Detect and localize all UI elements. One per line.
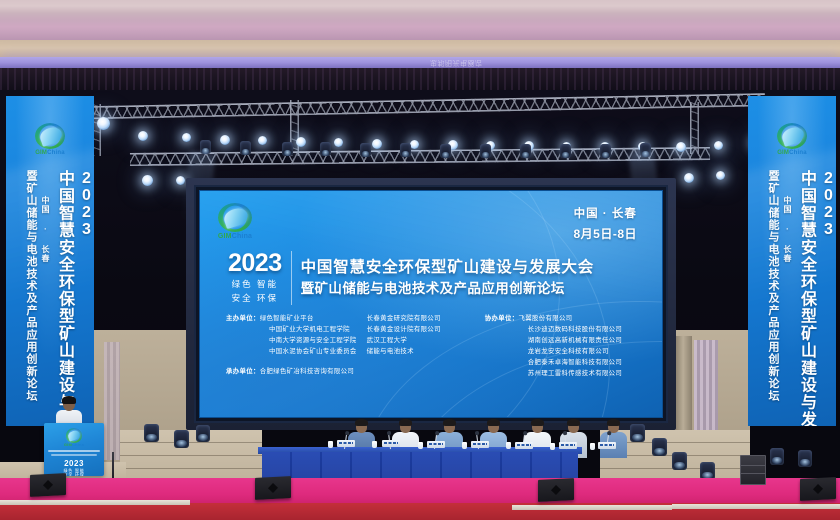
banner-text-stack: 2023 中国智慧安全环保型矿山建设与发展大会 中国 · 长春 暨矿山储能与电池… (6, 96, 94, 426)
organizer-host-b3: 武汉工程大学 (367, 335, 441, 346)
par-light (176, 176, 185, 185)
organizer-host-label: 主办单位： (226, 315, 260, 322)
gim-logo-main: GIM (64, 442, 72, 447)
floor-moving-head (630, 424, 645, 442)
ceiling-stone-band (0, 40, 840, 58)
truss-leg-right (690, 102, 699, 154)
banner-text-stack: 2023 中国智慧安全环保型矿山建设与发展大会 中国 · 长春 暨矿山储能与电池… (748, 96, 836, 426)
organizer-host-1: 绿色智能矿业平台 (260, 315, 314, 322)
stage-monitor-speaker (800, 477, 836, 501)
gim-logo-main: GIM (218, 233, 232, 240)
par-light (97, 117, 110, 130)
par-light (716, 171, 725, 180)
moving-head-light (400, 143, 411, 157)
organizer-undertaker-label: 承办单位： (226, 368, 260, 375)
screen-slogan-line1: 绿色 智能 (228, 278, 282, 290)
organizer-undertaker-row: 承办单位：合肥绿色矿冶科技咨询有限公司 (226, 366, 357, 377)
organizer-coorg-row: 协办单位：飞翼股份有限公司 (485, 313, 622, 324)
moving-head-light (640, 143, 651, 157)
organizer-host-b2: 长春黄金设计院有限公司 (367, 324, 441, 335)
gim-china-logo: GIMChina (213, 202, 257, 240)
name-plate (337, 440, 355, 447)
vertical-banner-right: GIMChina 2023 中国智慧安全环保型矿山建设与发展大会 中国 · 长春… (748, 96, 836, 426)
screen-title-block: 中国智慧安全环保型矿山建设与发展大会 暨矿山储能与电池技术及产品应用创新论坛 (301, 258, 642, 297)
floor-edge-strip (672, 504, 840, 509)
moving-head-light (440, 144, 451, 158)
gim-logo-text: GIMChina (63, 443, 85, 447)
panelist-head (532, 421, 543, 433)
par-light (142, 175, 153, 186)
panelist-hair (487, 419, 500, 426)
panelist-head (568, 421, 579, 433)
gim-logo-text: GIMChina (213, 233, 257, 240)
water-cup (372, 441, 377, 448)
screen-title-divider (291, 251, 292, 305)
screen-title-row: 2023 绿色 智能 安全 环保 中国智慧安全环保型矿山建设与发展大会 暨矿山储… (228, 251, 642, 305)
organizer-coorg-3: 湖南创远高新机械有限责任公司 (485, 335, 622, 346)
name-plate (515, 442, 533, 449)
floor-moving-head (798, 450, 812, 467)
par-light (676, 142, 686, 152)
panelist-hair (399, 419, 412, 426)
par-light (334, 138, 343, 147)
organizer-coorg-label: 协办单位： (485, 315, 519, 322)
speaker-podium: GIMChina 2023 绿色 智能 安全 环保 (44, 423, 104, 476)
banner-year: 2023 (820, 170, 836, 238)
panelist-hair (531, 419, 544, 426)
podium-stand (112, 452, 114, 480)
water-cup (418, 442, 423, 449)
banner-city: 中国 · 长春 (40, 196, 51, 263)
screen-year: 2023 (228, 251, 282, 276)
organizer-host-row: 主办单位：绿色智能矿业平台 (226, 313, 357, 324)
organizer-host-b1: 长春黄金研究院有限公司 (367, 313, 441, 324)
organizer-coorg-6: 苏州理工雷科传感技术有限公司 (485, 368, 622, 379)
banner-title: 中国智慧安全环保型矿山建设与发展大会 (52, 170, 76, 426)
conference-stage-photo: 忠邦阳光电器店 (0, 0, 840, 520)
moving-head-light (360, 143, 371, 157)
floor-edge-strip (512, 505, 672, 510)
organizer-host-3: 中南大学资源与安全工程学院 (226, 335, 357, 346)
organizer-host-b4: 储能与电池技术 (367, 346, 441, 357)
equipment-road-case (740, 455, 766, 485)
floor-moving-head (196, 425, 210, 442)
stage-monitor-speaker (30, 473, 66, 497)
water-cup (462, 442, 467, 449)
panelist-hair (443, 419, 456, 426)
screen-city: 中国 · 长春 (573, 205, 637, 221)
organizer-host-4: 中国水泥协会矿山专业委员会 (226, 346, 357, 357)
panelist-hair (607, 419, 620, 426)
name-plate (382, 440, 400, 447)
floor-moving-head (652, 438, 667, 456)
podium-year: 2023 (44, 459, 104, 468)
organizer-host-column-2: 长春黄金研究院有限公司 长春黄金设计院有限公司 武汉工程大学 储能与电池技术 (367, 313, 441, 379)
banner-city: 中国 · 长春 (782, 196, 793, 263)
panelist-head (444, 421, 455, 433)
panelist-head (400, 421, 411, 433)
moving-head-light (480, 144, 491, 158)
par-light (138, 131, 148, 141)
water-cup (328, 441, 333, 448)
floor-moving-head (672, 452, 687, 470)
par-light (258, 136, 267, 145)
water-cup (590, 443, 595, 450)
name-plate (598, 442, 616, 449)
organizer-coorg-1: 飞翼股份有限公司 (519, 315, 573, 322)
floor-edge-strip (0, 500, 190, 505)
stage-monitor-speaker (538, 478, 574, 502)
stage-monitor-speaker (255, 476, 291, 500)
vertical-banner-left: GIMChina 2023 中国智慧安全环保型矿山建设与发展大会 中国 · 长春… (6, 96, 94, 426)
panelist (600, 421, 627, 458)
moving-head-light (240, 141, 251, 155)
banner-title: 中国智慧安全环保型矿山建设与发展大会 (794, 170, 818, 426)
screen-place-block: 中国 · 长春 8月5日-8日 (573, 205, 637, 242)
led-main-screen: GIMChina 中国 · 长春 8月5日-8日 2023 绿色 智能 安全 环… (199, 190, 663, 418)
par-light (714, 141, 723, 150)
stage-steps-left (120, 430, 262, 480)
moving-head-light (200, 140, 211, 154)
name-plate (427, 441, 445, 448)
ceiling-reflected-text: 忠邦阳光电器店 (430, 58, 483, 67)
screen-title-line1: 中国智慧安全环保型矿山建设与发展大会 (301, 258, 642, 277)
moving-head-light (320, 142, 331, 156)
panelist-hair (567, 419, 580, 426)
gim-china-logo: GIMChina (63, 428, 85, 447)
ceiling-led-strip (0, 57, 840, 68)
organizer-undertaker-value: 合肥绿色矿冶科技咨询有限公司 (260, 368, 354, 375)
moving-head-light (282, 142, 293, 156)
banner-subtitle: 暨矿山储能与电池技术及产品应用创新论坛 (765, 170, 781, 402)
floor-moving-head (144, 424, 159, 442)
stage-curtain-left (104, 342, 120, 460)
water-cup (550, 443, 555, 450)
screen-date: 8月5日-8日 (573, 225, 637, 242)
organizer-coorg-column: 协办单位：飞翼股份有限公司 长沙迪迈数码科技股份有限公司 湖南创远高新机械有限责… (485, 313, 622, 379)
organizer-coorg-4: 龙岩龙安安全科技有限公司 (485, 346, 622, 357)
name-plate (471, 441, 489, 448)
moving-head-light (560, 144, 571, 158)
par-light (182, 133, 191, 142)
par-light (296, 137, 306, 147)
moving-head-light (520, 144, 531, 158)
organizer-coorg-2: 长沙迪迈数码科技股份有限公司 (485, 324, 622, 335)
moving-head-light (600, 144, 611, 158)
par-light (220, 135, 230, 145)
par-light (410, 140, 419, 149)
organizer-coorg-5: 合肥泰禾卓海智能科技有限公司 (485, 357, 622, 368)
screen-organizers: 主办单位：绿色智能矿业平台 中国矿业大学机电工程学院 中南大学资源与安全工程学院… (226, 313, 646, 379)
banner-subtitle: 暨矿山储能与电池技术及产品应用创新论坛 (23, 170, 39, 402)
speaker-head (63, 398, 75, 411)
organizer-host-2: 中国矿业大学机电工程学院 (226, 324, 357, 335)
name-plate (559, 442, 577, 449)
organizer-host-column: 主办单位：绿色智能矿业平台 中国矿业大学机电工程学院 中南大学资源与安全工程学院… (226, 313, 357, 379)
podium-title-line2 (51, 454, 97, 456)
panelist-hair (355, 419, 368, 426)
panelist-head (356, 421, 367, 433)
floor-moving-head (174, 430, 189, 448)
screen-year-block: 2023 绿色 智能 安全 环保 (228, 251, 282, 305)
screen-title-line2: 暨矿山储能与电池技术及产品应用创新论坛 (301, 280, 642, 298)
banner-year: 2023 (78, 170, 94, 238)
podium-title-line1 (48, 450, 100, 452)
water-cup (506, 442, 511, 449)
par-light (684, 173, 694, 183)
gim-logo-sub: China (232, 233, 252, 240)
par-light (372, 139, 382, 149)
speaker-hair (62, 396, 76, 404)
screen-slogan-line2: 安全 环保 (228, 292, 282, 304)
floor-moving-head (770, 448, 784, 465)
panelist-head (488, 421, 499, 433)
gim-logo-sub: China (72, 442, 84, 447)
